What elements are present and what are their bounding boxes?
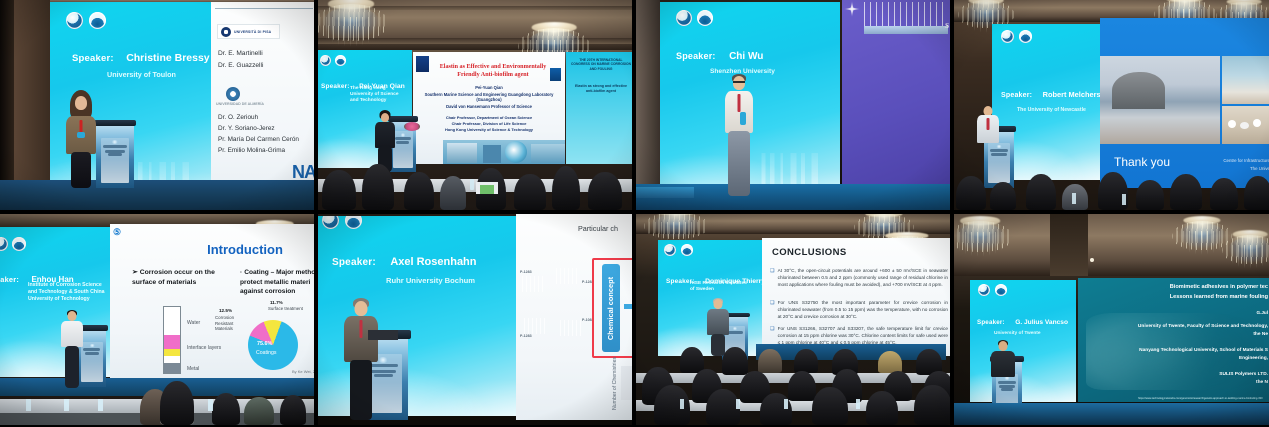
water-bottle [26, 399, 31, 411]
slide-heading: CONCLUSIONS [772, 247, 847, 258]
person-speaker [722, 74, 756, 196]
slide-affiliation-3b: the N [1256, 380, 1268, 385]
speaker-name: Christine Bressy [126, 52, 209, 64]
compound-code: P-1283 [520, 270, 532, 274]
panel-julius-vancso[interactable]: Speaker: G. Julius Vancso University of … [954, 214, 1269, 425]
bullet-1: ➢Corrosion occur on the surface of mater… [132, 268, 224, 288]
person-speaker [990, 340, 1016, 380]
pie-slice-name-coatings: Coatings [256, 350, 276, 356]
bullet-2: ·Coating – Major metho protect metallic … [240, 268, 314, 297]
molecule-structure [556, 268, 580, 284]
globe-logo-icon [676, 10, 692, 26]
globe-logo-icon [322, 216, 339, 229]
side-banner-subtitle: Elastin as strong and effective anti-bio… [572, 84, 630, 93]
introduction-slide: ⑤ Introduction ➢Corrosion occur on the s… [110, 224, 314, 378]
podium [96, 124, 134, 188]
beach-photo-1 [1100, 56, 1220, 144]
person-speaker [342, 298, 380, 420]
beach-photo-3 [1222, 106, 1269, 144]
globe-logo-icon [320, 55, 331, 66]
side-banner-title: THE 20TH INTERNATIONAL CONGRESS ON MARIN… [570, 58, 632, 71]
water-bottle [1072, 193, 1076, 204]
slide-heading: Introduction [180, 242, 310, 257]
pie-slice-label-crm: 12.5% [219, 308, 232, 313]
slide-divider [215, 8, 313, 9]
wave-logo-icon [1019, 30, 1032, 43]
checkbox-bullet-icon: ❑ [770, 268, 775, 288]
pie-slice-label-surface-treatment: 11.7% [270, 300, 283, 305]
ceiling-light [1090, 258, 1094, 262]
audience [954, 147, 1269, 210]
speaker-affiliation: RISE Research Institutes of Sweden [690, 281, 752, 293]
laptop-on-podium [368, 330, 398, 340]
coauthor-name: Pr. Emilio Molina-Grima [218, 147, 285, 155]
wave-logo-icon [12, 237, 26, 251]
speaker-label: Speaker: [332, 257, 376, 268]
panel-chi-wu[interactable]: Speaker: Chi Wu Shenzhen University S 20… [636, 0, 950, 210]
stage-step [636, 187, 694, 198]
audience [318, 139, 632, 210]
slide-affiliation-1: University of Twente, Faculty of Science… [1082, 324, 1268, 329]
pie-slice-label-coatings: 75.6% [257, 341, 272, 347]
pie-slice-name-crm: Corrosion Resistant Materials [215, 315, 245, 332]
coauthor-name: Pr. María Del Carmen Cerón [218, 136, 299, 144]
surface-bar [864, 26, 948, 34]
globe-logo-icon [66, 12, 83, 29]
panel-christine-bressy[interactable]: Speaker: Christine Bressy University of … [0, 0, 314, 210]
photo-montage-grid: Speaker: Christine Bressy University of … [0, 0, 1269, 427]
slide-side-text: S [945, 22, 949, 30]
water-bottle [64, 399, 69, 411]
left-pillar [0, 0, 14, 210]
molecule-slide: S 2023-2024 08:3 [842, 0, 950, 200]
speaker-label: eaker: [0, 275, 19, 284]
water-bottle [470, 179, 474, 190]
chart-placeholder [621, 366, 632, 400]
checkbox-bullet-icon: ❑ [770, 300, 775, 320]
wave-logo-icon [89, 12, 106, 29]
slide-heading: Particular ch [578, 224, 618, 233]
wave-logo-icon [335, 55, 346, 66]
panel-pei-yuan-qian[interactable]: Speaker: Pei-Yuan Qian The Hong Kong Uni… [318, 0, 632, 210]
globe-logo-icon [664, 244, 676, 256]
slide-title-line-2: Friendly Anti-biofilm agent [433, 72, 553, 78]
stack-label: Interface layers [187, 345, 221, 351]
chandelier [318, 0, 388, 46]
flower-arrangement [404, 122, 420, 131]
pisa-org-name: UNIVERSITÀ DI PISA [234, 30, 271, 34]
slide-affiliation-1b: the Ne [1253, 332, 1268, 337]
stack-label: Water [187, 320, 200, 326]
slide-lab: Southern Marine Science and Engineering … [413, 92, 565, 102]
laptop-screen [480, 185, 494, 194]
water-bottle [856, 399, 860, 409]
water-bottle [680, 399, 684, 409]
conclusion-bullet-2: ❑ For UNS S32750 the most important para… [770, 300, 948, 320]
coauthor-name: Dr. E. Martinelli [218, 50, 263, 58]
slide-affiliation-2: Nanyang Technological University, School… [1082, 348, 1268, 353]
university-crest-icon [416, 56, 429, 72]
wave-logo-icon [697, 10, 713, 26]
wood-column [14, 0, 50, 210]
slide-title-line-1: Elastin as Effective and Environmentally [433, 64, 553, 72]
chandelier [954, 216, 1012, 256]
coauthor-name: Dr. Y. Soriano-Jerez [218, 125, 275, 133]
sparkle-icon [844, 1, 860, 17]
globe-logo-icon [1001, 30, 1014, 43]
speaker-affiliation: The Hong Kong University of Science and … [350, 86, 408, 105]
slide-title-line-1: Biomimetic adhesives in polymer tec [1096, 284, 1268, 290]
conclusion-bullet-1: ❑ At 30°C, the open-circuit potentials a… [770, 268, 948, 288]
panel-axel-rosenhahn[interactable]: Speaker: Axel Rosenhahn Ruhr University … [318, 214, 632, 425]
slide-role: Chair Professor, Department of Ocean Sci… [413, 115, 565, 120]
audience [636, 320, 950, 426]
globe-logo-icon [978, 284, 990, 296]
flow-arrow-icon [624, 304, 632, 309]
slide-affiliation-2b: Engineering, [1239, 356, 1268, 361]
compound-code: P-1283 [520, 334, 532, 338]
speaker-affiliation: Ruhr University Bochum [386, 276, 475, 285]
water-bottle [98, 399, 103, 411]
water-bottle [1122, 194, 1126, 205]
beach-photo-2 [1222, 56, 1269, 104]
stage-floor [954, 403, 1269, 425]
stage-floor [0, 180, 314, 210]
chemistry-slide: Particular ch P-1283 P-1282 P-1083 P-128… [516, 214, 632, 420]
slide-role: Chair Professor, Division of Life Scienc… [413, 121, 565, 126]
slide-affiliation-3: SULIS Polymers LTD. [1219, 372, 1268, 377]
congress-logos [664, 244, 693, 256]
molecule-structure [522, 276, 544, 292]
congress-logos [320, 55, 346, 66]
speaker-label: Speaker: [72, 53, 114, 64]
ceiling-beam [1050, 214, 1088, 276]
speaker-affiliation: Institute of Corrosion Science and Techn… [28, 282, 106, 303]
congress-logos [0, 237, 26, 251]
wave-logo-icon [995, 284, 1007, 296]
molecule-structure [524, 318, 548, 334]
water-bottle [736, 399, 740, 409]
person-speaker [64, 90, 98, 188]
dot-bullet-icon: · [240, 269, 242, 276]
speaker-name: Axel Rosenhahn [390, 256, 476, 268]
almeria-org-name: UNIVERSIDAD DE ALMERÍA [216, 102, 264, 106]
congress-logos [66, 12, 106, 29]
audience [0, 362, 314, 425]
coauthor-name: Dr. E. Guazzelli [218, 62, 263, 70]
chandelier [1222, 230, 1269, 268]
congress-logos [676, 10, 713, 26]
speaker-affiliation: University of Twente [994, 331, 1041, 336]
wave-logo-icon [345, 216, 362, 229]
water-bottle [208, 399, 213, 411]
molecule-structure [560, 320, 584, 336]
speaker-label: Speaker: [321, 83, 350, 90]
coauthors-slide: UNIVERSITÀ DI PISA Dr. E. Martinelli Dr.… [211, 2, 314, 210]
coauthor-name: Dr. O. Zeriouh [218, 114, 258, 122]
speaker-affiliation: The University of Newcastle [1017, 107, 1086, 113]
source-url: https://www.technologynetworks.com/genom… [1138, 397, 1263, 400]
pisa-logo-block: UNIVERSITÀ DI PISA [217, 24, 280, 39]
almeria-crest-icon [226, 87, 240, 101]
marble-pillar [636, 0, 660, 210]
slide-chair-title: David von Hansemann Professor of Science [413, 104, 565, 109]
congress-logos [1001, 30, 1032, 43]
wave-logo-icon [681, 244, 693, 256]
globe-logo-icon [0, 237, 8, 251]
congress-logos [322, 216, 362, 229]
pisa-crest-icon [221, 27, 231, 37]
institute-logo-icon: ⑤ [113, 227, 125, 239]
microphone [740, 112, 746, 125]
panel-dominique-thierry[interactable]: Speaker: Dominique Thierry RISE Research… [636, 214, 950, 425]
polymer-chains [864, 2, 948, 26]
y-axis-label: Number of Chemistries [612, 357, 618, 410]
chandelier [644, 214, 708, 242]
glasses [733, 81, 745, 83]
speaker-affiliation: University of Toulon [107, 70, 176, 79]
shipwreck-slide: Biomimetic adhesives in polymer tec Less… [1078, 278, 1269, 402]
chemical-concept-chip[interactable]: Chemical concept [602, 264, 620, 352]
slide-role: Hong Kong University of Science & Techno… [413, 127, 565, 132]
speaker-screen: Speaker: G. Julius Vancso University of … [970, 280, 1076, 402]
slide-author: G.Jul [1257, 310, 1269, 315]
slide-title-line-2: Lessons learned from marine fouling [1096, 294, 1268, 300]
chevron-bullet-icon: ➢ [132, 269, 138, 276]
panel-robert-melchers[interactable]: Speaker: Robert Melchers The University … [954, 0, 1269, 210]
water-bottle [784, 399, 788, 409]
panel-enhou-han[interactable]: eaker: Enhou Han Institute of Corrosion … [0, 214, 314, 425]
congress-logos [978, 284, 1007, 296]
slide-author: Pei-Yuan Qian [413, 85, 565, 90]
pie-slice-name-surface-treatment: Surface treatment [268, 306, 303, 311]
